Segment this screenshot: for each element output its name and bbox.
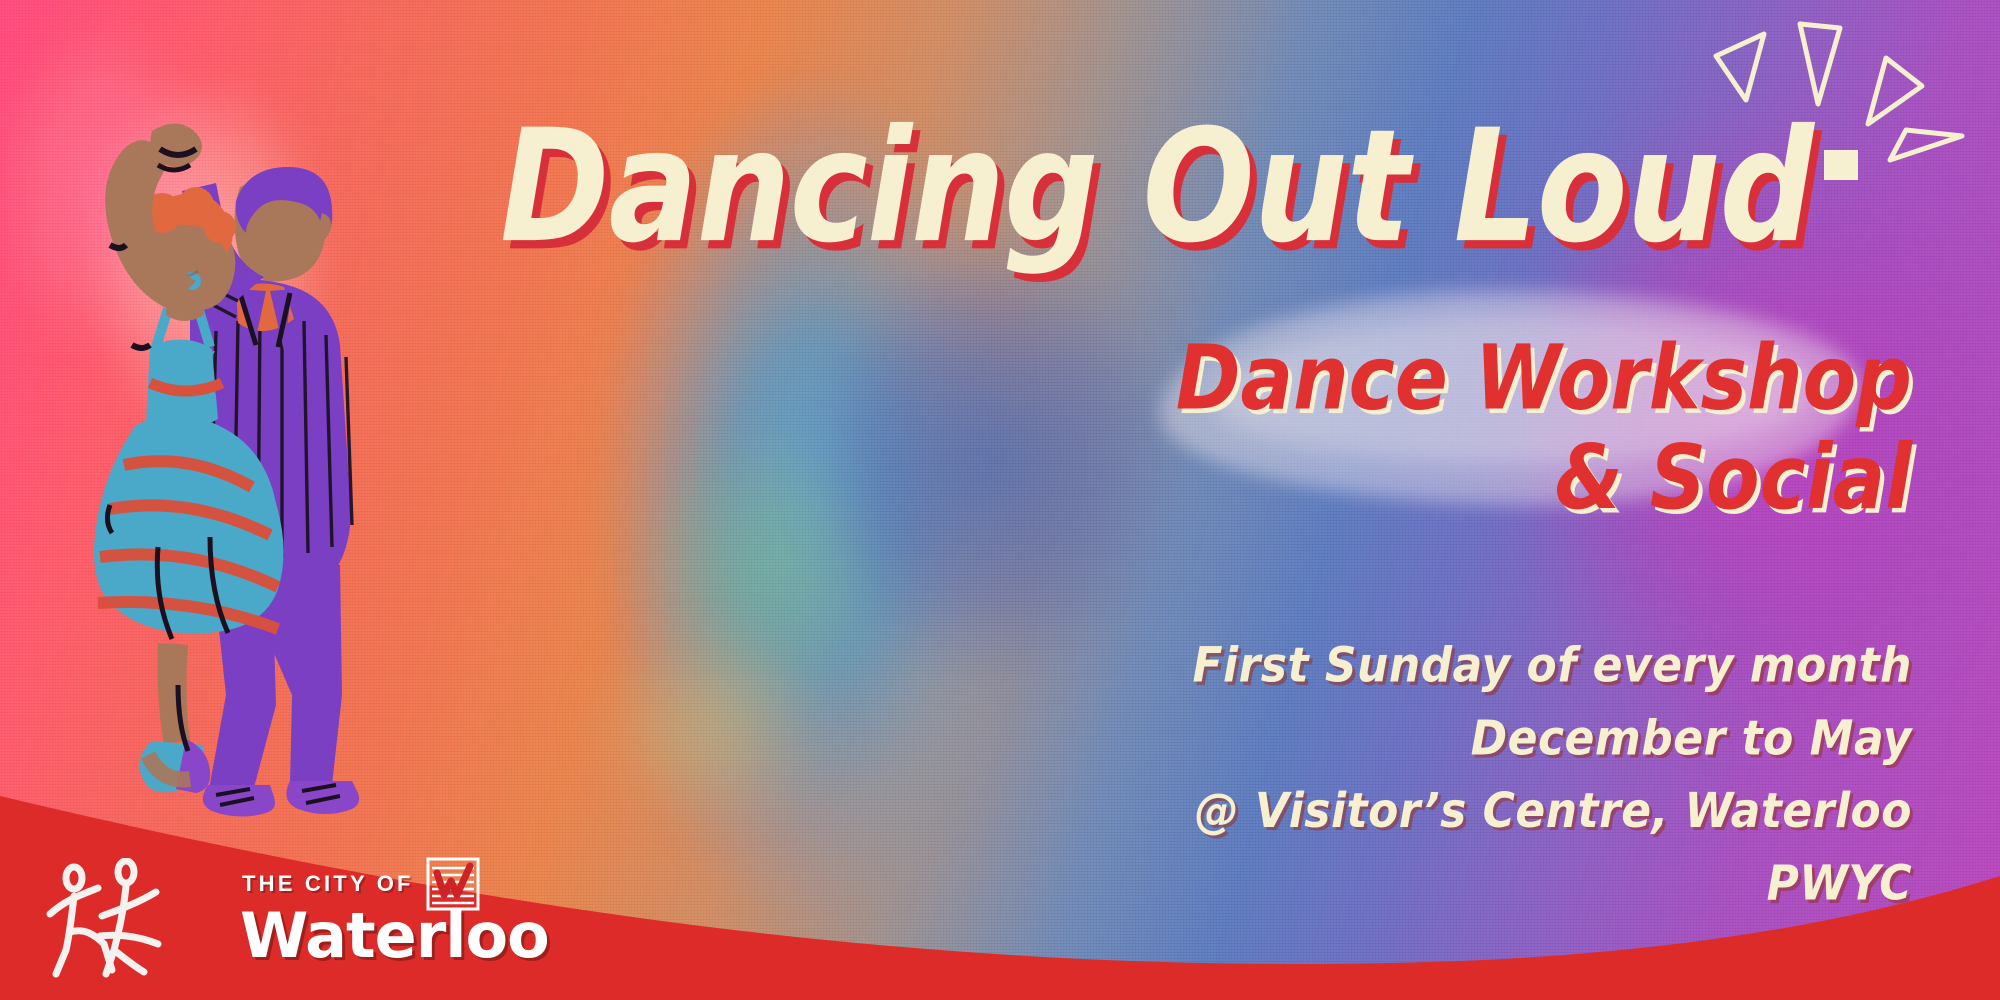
detail-location: @ Visitor’s Centre, Waterloo — [1152, 775, 1912, 848]
poster-title: Dancing Out Loud — [500, 108, 1890, 267]
city-of-waterloo-logo: THE CITY OF Waterloo — [240, 857, 500, 972]
detail-months: December to May — [1152, 703, 1912, 776]
poster-subtitle: Dance Workshop & Social — [1012, 330, 1912, 529]
detail-price: PWYC — [1152, 848, 1912, 921]
detail-schedule: First Sunday of every month — [1152, 630, 1912, 703]
subtitle-line-2: & Social — [1012, 430, 1912, 530]
waterloo-wordmark: Waterloo — [240, 907, 500, 966]
subtitle-line-1: Dance Workshop — [1012, 330, 1912, 430]
dancing-couple-logo — [40, 858, 180, 978]
event-poster: Dancing Out Loud Dance Workshop & Social… — [0, 0, 2000, 1000]
waterloo-tagline: THE CITY OF — [242, 871, 414, 897]
event-details: First Sunday of every month December to … — [1152, 630, 1912, 920]
